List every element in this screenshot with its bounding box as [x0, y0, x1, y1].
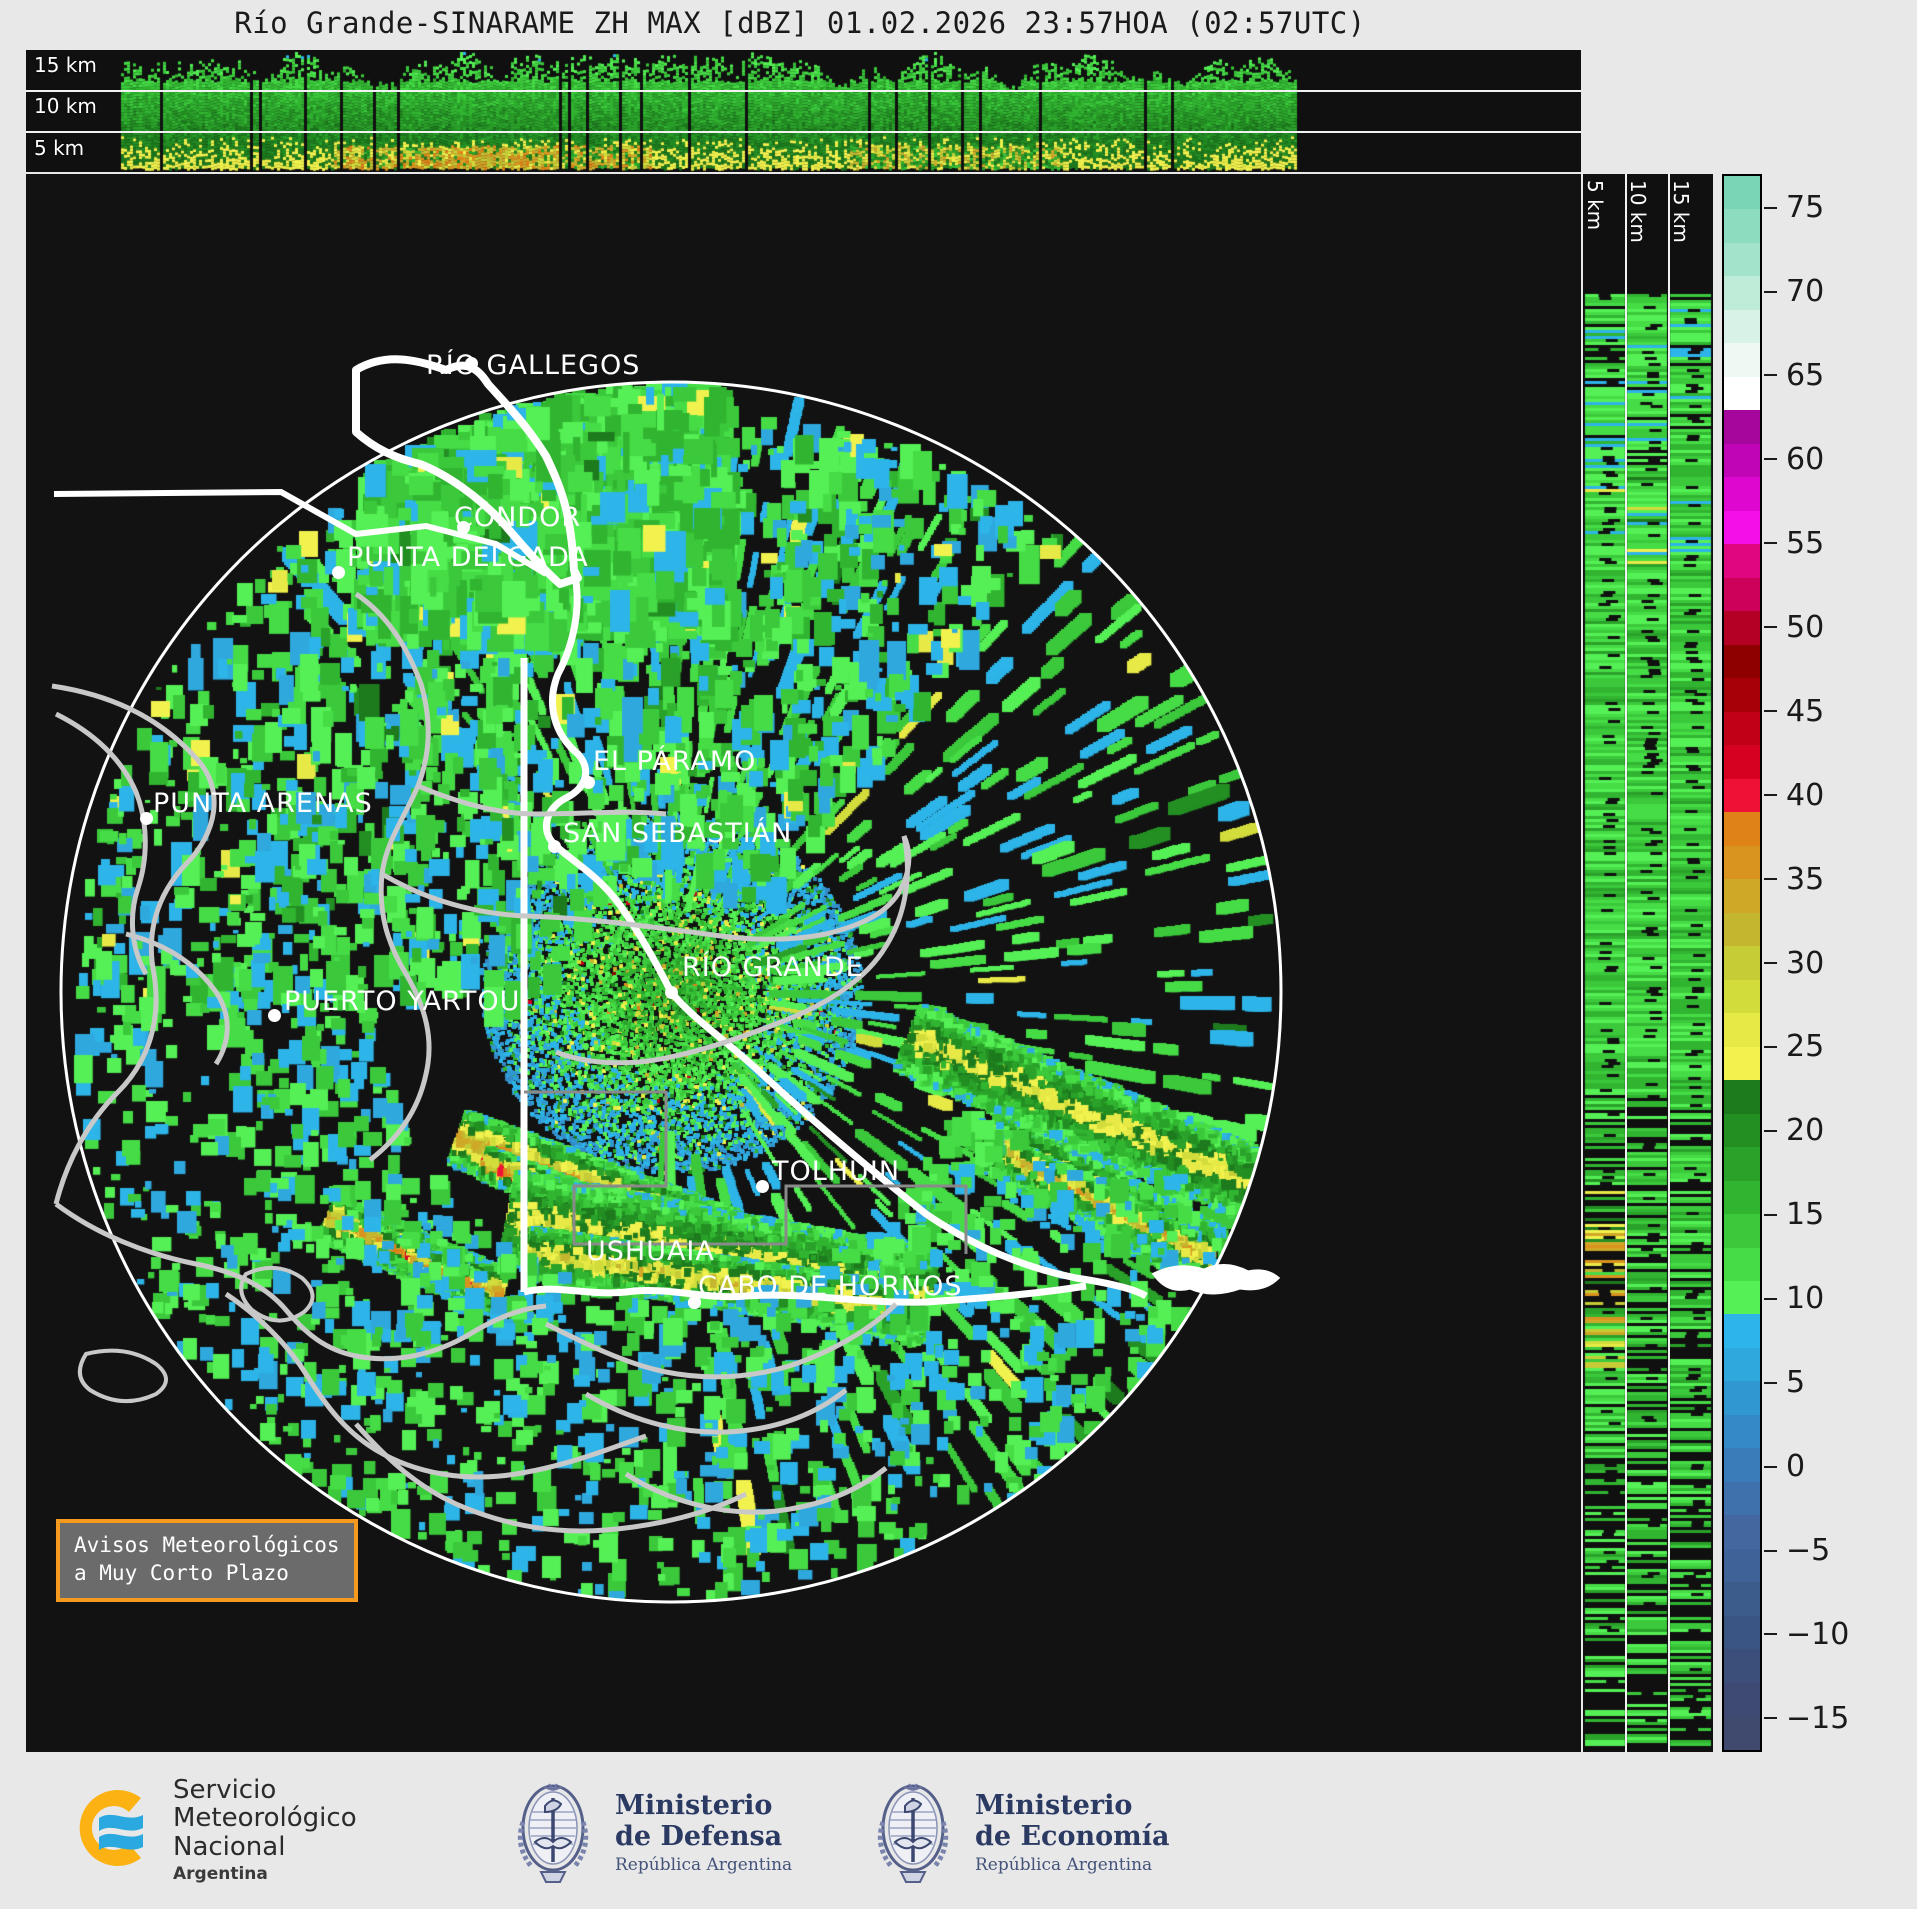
colorbar-tick: 60: [1764, 439, 1824, 479]
radar-product-page: Río Grande-SINARAME ZH MAX [dBZ] 01.02.2…: [0, 0, 1917, 1909]
colorbar-tick-label: 35: [1786, 862, 1824, 897]
height-label-10km: 10 km: [34, 94, 97, 118]
colorbar-segment: [1724, 1515, 1760, 1548]
height-label-15km-vertical: 15 km: [1669, 180, 1693, 243]
colorbar-tick: 0: [1764, 1447, 1805, 1487]
colorbar-segment: [1724, 377, 1760, 410]
colorbar-tick: 20: [1764, 1111, 1824, 1151]
height-label-5km: 5 km: [34, 136, 84, 160]
colorbar-segment: [1724, 444, 1760, 477]
colorbar-tick-label: 75: [1786, 190, 1824, 225]
economia-line-2: de Economía: [975, 1822, 1169, 1852]
smn-logo-text: Servicio Meteorológico Nacional Argentin…: [173, 1776, 357, 1883]
colorbar-segment: [1724, 1683, 1760, 1716]
map-geography-overlay: [26, 174, 1581, 1752]
city-marker-el-p-ramo: [582, 776, 595, 789]
colorbar-tick-mark: [1764, 1130, 1777, 1132]
city-marker-punta-delgada: [332, 566, 345, 579]
coastline-archipelago-2: [226, 1294, 646, 1477]
colorbar-segment: [1724, 946, 1760, 979]
national-border-north: [356, 359, 578, 584]
colorbar-segment: [1724, 1080, 1760, 1113]
colorbar-segment: [1724, 276, 1760, 309]
city-marker-tolhuin: [756, 1180, 769, 1193]
colorbar-segment: [1724, 1013, 1760, 1046]
colorbar-tick: 15: [1764, 1195, 1824, 1235]
bay-shore-1: [418, 786, 666, 814]
colorbar-tick: 5: [1764, 1363, 1805, 1403]
economia-subtitle: República Argentina: [975, 1855, 1169, 1875]
warning-line-2: a Muy Corto Plazo: [74, 1560, 340, 1588]
colorbar-segment: [1724, 1415, 1760, 1448]
colorbar-segment: [1724, 846, 1760, 879]
colorbar-tick: 40: [1764, 775, 1824, 815]
smn-line-2: Meteorológico: [173, 1804, 357, 1832]
smn-logo-mark: [55, 1776, 159, 1884]
colorbar-tick-mark: [1764, 878, 1777, 880]
colorbar-tick: 75: [1764, 188, 1824, 228]
smn-line-3: Nacional: [173, 1833, 357, 1861]
colorbar-segment: [1724, 243, 1760, 276]
right-cross-section-panel: 5 km 10 km 15 km: [1583, 174, 1713, 1752]
colorbar-segment: [1724, 1448, 1760, 1481]
colorbar-tick-mark: [1764, 1633, 1777, 1635]
colorbar-tick: 10: [1764, 1279, 1824, 1319]
colorbar-tick-label: 10: [1786, 1281, 1824, 1316]
colorbar-segment: [1724, 678, 1760, 711]
colorbar-tick: 70: [1764, 272, 1824, 312]
city-marker-c-ndor: [457, 521, 470, 534]
colorbar-tick-labels: 757065605550454035302520151050−5−10−15: [1764, 174, 1914, 1752]
island-group-east: [1154, 1265, 1278, 1293]
colorbar-segment: [1724, 1281, 1760, 1314]
page-title: Río Grande-SINARAME ZH MAX [dBZ] 01.02.2…: [0, 6, 1600, 40]
strait-magellan-1: [126, 934, 227, 1064]
colorbar-segment: [1724, 1381, 1760, 1414]
island-hoste: [626, 1468, 886, 1512]
colorbar-tick-mark: [1764, 962, 1777, 964]
beagle-channel-coast: [524, 1286, 1086, 1302]
defensa-logo-text: Ministerio de Defensa República Argentin…: [615, 1791, 792, 1874]
colorbar-segment: [1724, 745, 1760, 778]
colorbar-tick-mark: [1764, 626, 1777, 628]
colorbar-tick: 45: [1764, 691, 1824, 731]
top-cross-section-panel: 15 km 10 km 5 km: [26, 50, 1581, 172]
city-marker-san-sebasti-n: [548, 840, 561, 853]
colorbar-tick: 55: [1764, 523, 1824, 563]
warning-box[interactable]: Avisos Meteorológicos a Muy Corto Plazo: [56, 1519, 358, 1602]
colorbar-segment: [1724, 209, 1760, 242]
colorbar-tick-mark: [1764, 1550, 1777, 1552]
logo-ministerio-de-economia: Ministerio de Economía República Argenti…: [865, 1776, 1169, 1890]
colorbar-segment: [1724, 1047, 1760, 1080]
strait-magellan-2: [56, 714, 146, 974]
colorbar-segment: [1724, 310, 1760, 343]
smn-subtitle: Argentina: [173, 1864, 357, 1884]
colorbar-tick-mark: [1764, 1046, 1777, 1048]
warning-line-1: Avisos Meteorológicos: [74, 1532, 340, 1560]
city-marker-r-o-grande: [665, 986, 678, 999]
colorbar-segment: [1724, 410, 1760, 443]
colorbar-tick-label: −10: [1786, 1617, 1849, 1652]
colorbar-tick: −5: [1764, 1531, 1830, 1571]
colorbar-segment: [1724, 1616, 1760, 1649]
colorbar-segment: [1724, 1248, 1760, 1281]
city-marker-punta-arenas: [140, 812, 153, 825]
colorbar-segment: [1724, 611, 1760, 644]
island-navarino: [586, 1390, 846, 1432]
colorbar-tick-label: 55: [1786, 526, 1824, 561]
colorbar-segment: [1724, 1314, 1760, 1347]
colorbar-tick-mark: [1764, 1466, 1777, 1468]
colorbar-tick-label: 15: [1786, 1197, 1824, 1232]
colorbar-tick: 50: [1764, 607, 1824, 647]
city-marker-r-o-gallegos: [465, 357, 478, 370]
colorbar-tick-mark: [1764, 1717, 1777, 1719]
colorbar-tick-label: 20: [1786, 1113, 1824, 1148]
colorbar-tick: −10: [1764, 1614, 1849, 1654]
colorbar-tick-mark: [1764, 1214, 1777, 1216]
colorbar-tick-mark: [1764, 542, 1777, 544]
colorbar-tick-label: 45: [1786, 694, 1824, 729]
colorbar-tick-mark: [1764, 794, 1777, 796]
colorbar-segment: [1724, 343, 1760, 376]
colorbar-tick-label: 5: [1786, 1365, 1805, 1400]
logo-ministerio-de-defensa: Ministerio de Defensa República Argentin…: [505, 1776, 792, 1890]
colorbar-segment: [1724, 980, 1760, 1013]
colorbar-tick-mark: [1764, 1382, 1777, 1384]
argentina-coat-of-arms-icon: [505, 1776, 601, 1890]
colorbar-segment: [1724, 1114, 1760, 1147]
small-lake-2: [80, 1351, 166, 1401]
height-label-10km-vertical: 10 km: [1626, 180, 1650, 243]
smn-line-1: Servicio: [173, 1776, 357, 1804]
colorbar-segment: [1724, 1716, 1760, 1749]
colorbar-segment: [1724, 1214, 1760, 1247]
city-marker-cabo-de-hornos: [688, 1296, 701, 1309]
colorbar-segment: [1724, 1482, 1760, 1515]
colorbar-tick-mark: [1764, 374, 1777, 376]
colorbar-segment: [1724, 712, 1760, 745]
argentina-coat-of-arms-icon-2: [865, 1776, 961, 1890]
coastline-archipelago-1: [56, 1204, 546, 1359]
colorbar-tick-mark: [1764, 458, 1777, 460]
height-label-15km: 15 km: [34, 53, 97, 77]
lake-fagnano-south: [556, 836, 907, 1063]
colorbar-segment: [1724, 544, 1760, 577]
colorbar-segment: [1724, 1549, 1760, 1582]
colorbar-tick: 25: [1764, 1027, 1824, 1067]
radar-plot-panel[interactable]: RÍO GALLEGOSCÓNDORPUNTA DELGADAEL PÁRAMO…: [26, 174, 1581, 1752]
colorbar-segment: [1724, 812, 1760, 845]
vertical-divider-1: [1625, 174, 1627, 1752]
colorbar-segment: [1724, 1649, 1760, 1682]
defensa-subtitle: República Argentina: [615, 1855, 792, 1875]
colorbar-tick: 35: [1764, 859, 1824, 899]
colorbar-segment: [1724, 1181, 1760, 1214]
colorbar-segment: [1724, 779, 1760, 812]
colorbar-tick-label: 60: [1786, 442, 1824, 477]
top-cross-section-canvas: [26, 50, 1581, 172]
right-cross-section-canvas: [1583, 174, 1713, 1752]
colorbar-tick-mark: [1764, 291, 1777, 293]
chile-argentina-border-west: [54, 492, 546, 574]
reflectivity-colorbar: [1722, 174, 1762, 1752]
colorbar-segment: [1724, 879, 1760, 912]
colorbar-segment: [1724, 578, 1760, 611]
colorbar-tick: −15: [1764, 1698, 1849, 1738]
colorbar-segment: [1724, 477, 1760, 510]
colorbar-segment: [1724, 511, 1760, 544]
city-marker-puerto-yartou: [268, 1009, 281, 1022]
colorbar-tick-label: −5: [1786, 1533, 1830, 1568]
colorbar-tick-label: 0: [1786, 1449, 1805, 1484]
lake-fagnano-north: [382, 836, 909, 939]
footer-logos: Servicio Meteorológico Nacional Argentin…: [0, 1760, 1917, 1909]
logo-servicio-meteorologico-nacional: Servicio Meteorológico Nacional Argentin…: [55, 1776, 357, 1884]
colorbar-tick-label: 50: [1786, 610, 1824, 645]
colorbar-tick-mark: [1764, 207, 1777, 209]
defensa-line-1: Ministerio: [615, 1791, 792, 1821]
height-gridline-10km: [26, 131, 1581, 133]
coastline-archipelago-3: [356, 1424, 746, 1531]
colorbar-tick-mark: [1764, 710, 1777, 712]
coastline-central: [356, 594, 429, 1160]
colorbar-tick-label: 25: [1786, 1029, 1824, 1064]
economia-line-1: Ministerio: [975, 1791, 1169, 1821]
colorbar-segment: [1724, 913, 1760, 946]
colorbar-tick: 30: [1764, 943, 1824, 983]
defensa-line-2: de Defensa: [615, 1822, 792, 1852]
colorbar-tick: 65: [1764, 355, 1824, 395]
colorbar-tick-mark: [1764, 1298, 1777, 1300]
economia-logo-text: Ministerio de Economía República Argenti…: [975, 1791, 1169, 1874]
vertical-divider-2: [1668, 174, 1670, 1752]
coastline-archipelago-4: [546, 1304, 896, 1377]
colorbar-segment: [1724, 1582, 1760, 1615]
province-boundary: [524, 1092, 966, 1254]
colorbar-tick-label: 30: [1786, 946, 1824, 981]
colorbar-tick-label: 65: [1786, 358, 1824, 393]
colorbar-tick-label: 70: [1786, 274, 1824, 309]
colorbar-segment: [1724, 645, 1760, 678]
colorbar-segment: [1724, 1348, 1760, 1381]
height-gridline-15km: [26, 90, 1581, 92]
height-label-5km-vertical: 5 km: [1583, 180, 1607, 230]
colorbar-tick-label: 40: [1786, 778, 1824, 813]
colorbar-tick-label: −15: [1786, 1701, 1849, 1736]
colorbar-segment: [1724, 1147, 1760, 1180]
colorbar-segment: [1724, 176, 1760, 209]
